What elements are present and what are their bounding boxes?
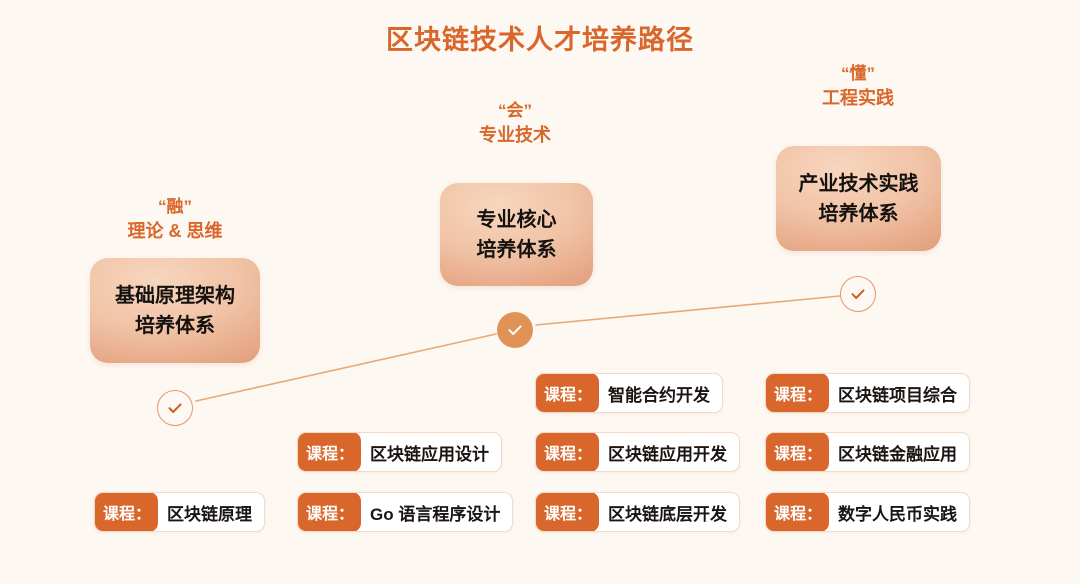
stage-label-3: “懂” 工程实践 — [748, 63, 968, 110]
stage-subtitle-3: 工程实践 — [748, 86, 968, 110]
stage-box-3-line2: 培养体系 — [819, 199, 899, 229]
stage-check-icon-3[interactable] — [840, 276, 876, 312]
course-pill[interactable]: 课程： Go 语言程序设计 — [297, 492, 513, 532]
stage-box-2-line1: 专业核心 — [477, 205, 557, 235]
course-pill[interactable]: 课程： 区块链应用设计 — [297, 432, 502, 472]
stage-box-1-line1: 基础原理架构 — [115, 281, 235, 311]
course-name: 智能合约开发 — [599, 374, 722, 412]
course-tag-label: 课程： — [297, 492, 361, 532]
stage-keyword-1: “融” — [65, 196, 285, 219]
check-icon — [848, 284, 868, 304]
course-pill[interactable]: 课程： 智能合约开发 — [535, 373, 723, 413]
course-tag-label: 课程： — [765, 492, 829, 532]
course-pill[interactable]: 课程： 区块链金融应用 — [765, 432, 970, 472]
stage-check-icon-1[interactable] — [157, 390, 193, 426]
course-pill[interactable]: 课程： 区块链应用开发 — [535, 432, 740, 472]
check-icon — [505, 320, 525, 340]
course-name: 区块链应用设计 — [361, 433, 501, 471]
course-tag-label: 课程： — [765, 432, 829, 472]
course-pill[interactable]: 课程： 区块链原理 — [94, 492, 265, 532]
course-name: 区块链应用开发 — [599, 433, 739, 471]
stage-keyword-2: “会” — [405, 100, 625, 123]
page-title: 区块链技术人才培养路径 — [0, 18, 1080, 57]
stage-label-2: “会” 专业技术 — [405, 100, 625, 147]
course-pill[interactable]: 课程： 数字人民币实践 — [765, 492, 970, 532]
course-name: 区块链项目综合 — [829, 374, 969, 412]
check-icon — [165, 398, 185, 418]
stage-check-icon-2[interactable] — [497, 312, 533, 348]
course-tag-label: 课程： — [535, 432, 599, 472]
stage-box-1[interactable]: 基础原理架构 培养体系 — [90, 258, 260, 363]
stage-box-3-line1: 产业技术实践 — [799, 169, 919, 199]
course-tag-label: 课程： — [535, 492, 599, 532]
course-name: 数字人民币实践 — [829, 493, 969, 531]
stage-subtitle-2: 专业技术 — [405, 123, 625, 147]
stage-box-3[interactable]: 产业技术实践 培养体系 — [776, 146, 941, 251]
course-name: 区块链底层开发 — [599, 493, 739, 531]
course-tag-label: 课程： — [94, 492, 158, 532]
course-name: 区块链金融应用 — [829, 433, 969, 471]
course-pill[interactable]: 课程： 区块链底层开发 — [535, 492, 740, 532]
stage-box-1-line2: 培养体系 — [135, 311, 215, 341]
course-name: Go 语言程序设计 — [361, 493, 512, 531]
course-tag-label: 课程： — [535, 373, 599, 413]
course-tag-label: 课程： — [765, 373, 829, 413]
stage-label-1: “融” 理论 & 思维 — [65, 196, 285, 243]
stage-keyword-3: “懂” — [748, 63, 968, 86]
course-tag-label: 课程： — [297, 432, 361, 472]
stage-box-2[interactable]: 专业核心 培养体系 — [440, 183, 593, 286]
stage-subtitle-1: 理论 & 思维 — [65, 219, 285, 243]
course-name: 区块链原理 — [158, 493, 264, 531]
stage-box-2-line2: 培养体系 — [477, 235, 557, 265]
course-pill[interactable]: 课程： 区块链项目综合 — [765, 373, 970, 413]
infographic-canvas: 区块链技术人才培养路径 “融” 理论 & 思维 基础原理架构 培养体系 “会” … — [0, 0, 1080, 584]
